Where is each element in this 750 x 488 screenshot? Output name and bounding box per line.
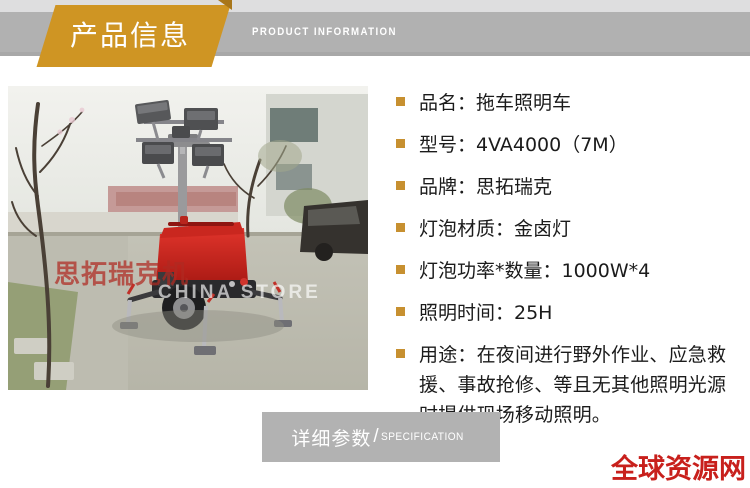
page-header: 产品信息 PRODUCT INFORMATION xyxy=(0,0,750,76)
specification-button[interactable]: 详细参数 / SPECIFICATION xyxy=(262,412,500,462)
product-spec-list: 品名：拖车照明车 型号：4VA4000（7M） 品牌：思拓瑞克 灯泡材质：金卤灯… xyxy=(396,88,746,442)
bullet-square-icon xyxy=(396,307,405,316)
bullet-square-icon xyxy=(396,181,405,190)
page-subtitle: PRODUCT INFORMATION xyxy=(252,26,397,38)
site-watermark: 全球资源网 xyxy=(611,447,746,486)
specification-separator: / xyxy=(373,426,378,448)
product-photo-image xyxy=(8,86,368,390)
specification-label-chinese: 详细参数 xyxy=(291,424,371,451)
spec-item-bulb-material: 灯泡材质：金卤灯 xyxy=(396,214,746,244)
page-title: 产品信息 xyxy=(70,14,230,58)
bullet-square-icon xyxy=(396,223,405,232)
spec-item-product-name: 品名：拖车照明车 xyxy=(396,88,746,118)
spec-item-label: 照明时间：25H xyxy=(419,298,552,328)
specification-label-english: SPECIFICATION xyxy=(381,431,464,443)
spec-item-label: 灯泡功率*数量：1000W*4 xyxy=(419,256,650,286)
spec-item-label: 型号：4VA4000（7M） xyxy=(419,130,628,160)
spec-item-label: 品名：拖车照明车 xyxy=(419,88,571,118)
product-photo: 思拓瑞克机 CHINA STORE xyxy=(8,86,368,390)
spec-item-model: 型号：4VA4000（7M） xyxy=(396,130,746,160)
bullet-square-icon xyxy=(396,97,405,106)
bullet-square-icon xyxy=(396,265,405,274)
spec-item-lighting-time: 照明时间：25H xyxy=(396,298,746,328)
bullet-square-icon xyxy=(396,349,405,358)
spec-item-label: 品牌：思拓瑞克 xyxy=(419,172,552,202)
header-tab-fold-icon xyxy=(218,0,232,10)
spec-item-label: 灯泡材质：金卤灯 xyxy=(419,214,571,244)
specification-button-inner: 详细参数 / SPECIFICATION xyxy=(262,412,500,462)
spec-item-brand: 品牌：思拓瑞克 xyxy=(396,172,746,202)
spec-item-bulb-power: 灯泡功率*数量：1000W*4 xyxy=(396,256,746,286)
bullet-square-icon xyxy=(396,139,405,148)
